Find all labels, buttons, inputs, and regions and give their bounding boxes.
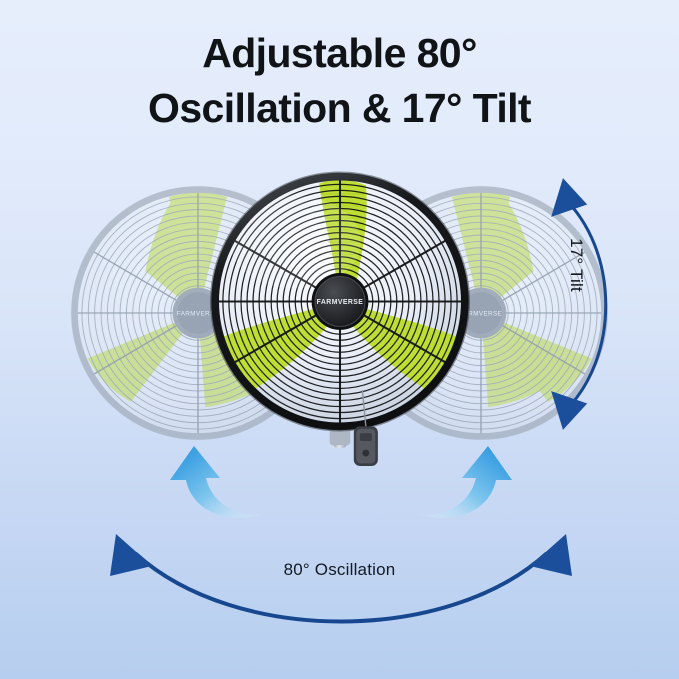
airflow-arrow-right <box>404 440 514 520</box>
control-box[interactable] <box>354 426 378 466</box>
fan-main: FARMVERSE <box>185 168 495 478</box>
product-feature-infographic: Adjustable 80° Oscillation & 17° Tilt <box>0 0 679 679</box>
tilt-arc-arrow <box>528 168 648 438</box>
oscillation-arc-arrow <box>96 520 586 640</box>
airflow-arrow-left <box>168 440 278 520</box>
headline-line-2: Oscillation & 17° Tilt <box>0 81 679 136</box>
oscillation-label: 80° Oscillation <box>0 560 679 580</box>
page-title: Adjustable 80° Oscillation & 17° Tilt <box>0 26 679 135</box>
fan-hub-brand: FARMVERSE <box>317 299 364 306</box>
headline-line-1: Adjustable 80° <box>0 26 679 81</box>
tilt-label: 17° Tilt <box>566 220 586 310</box>
